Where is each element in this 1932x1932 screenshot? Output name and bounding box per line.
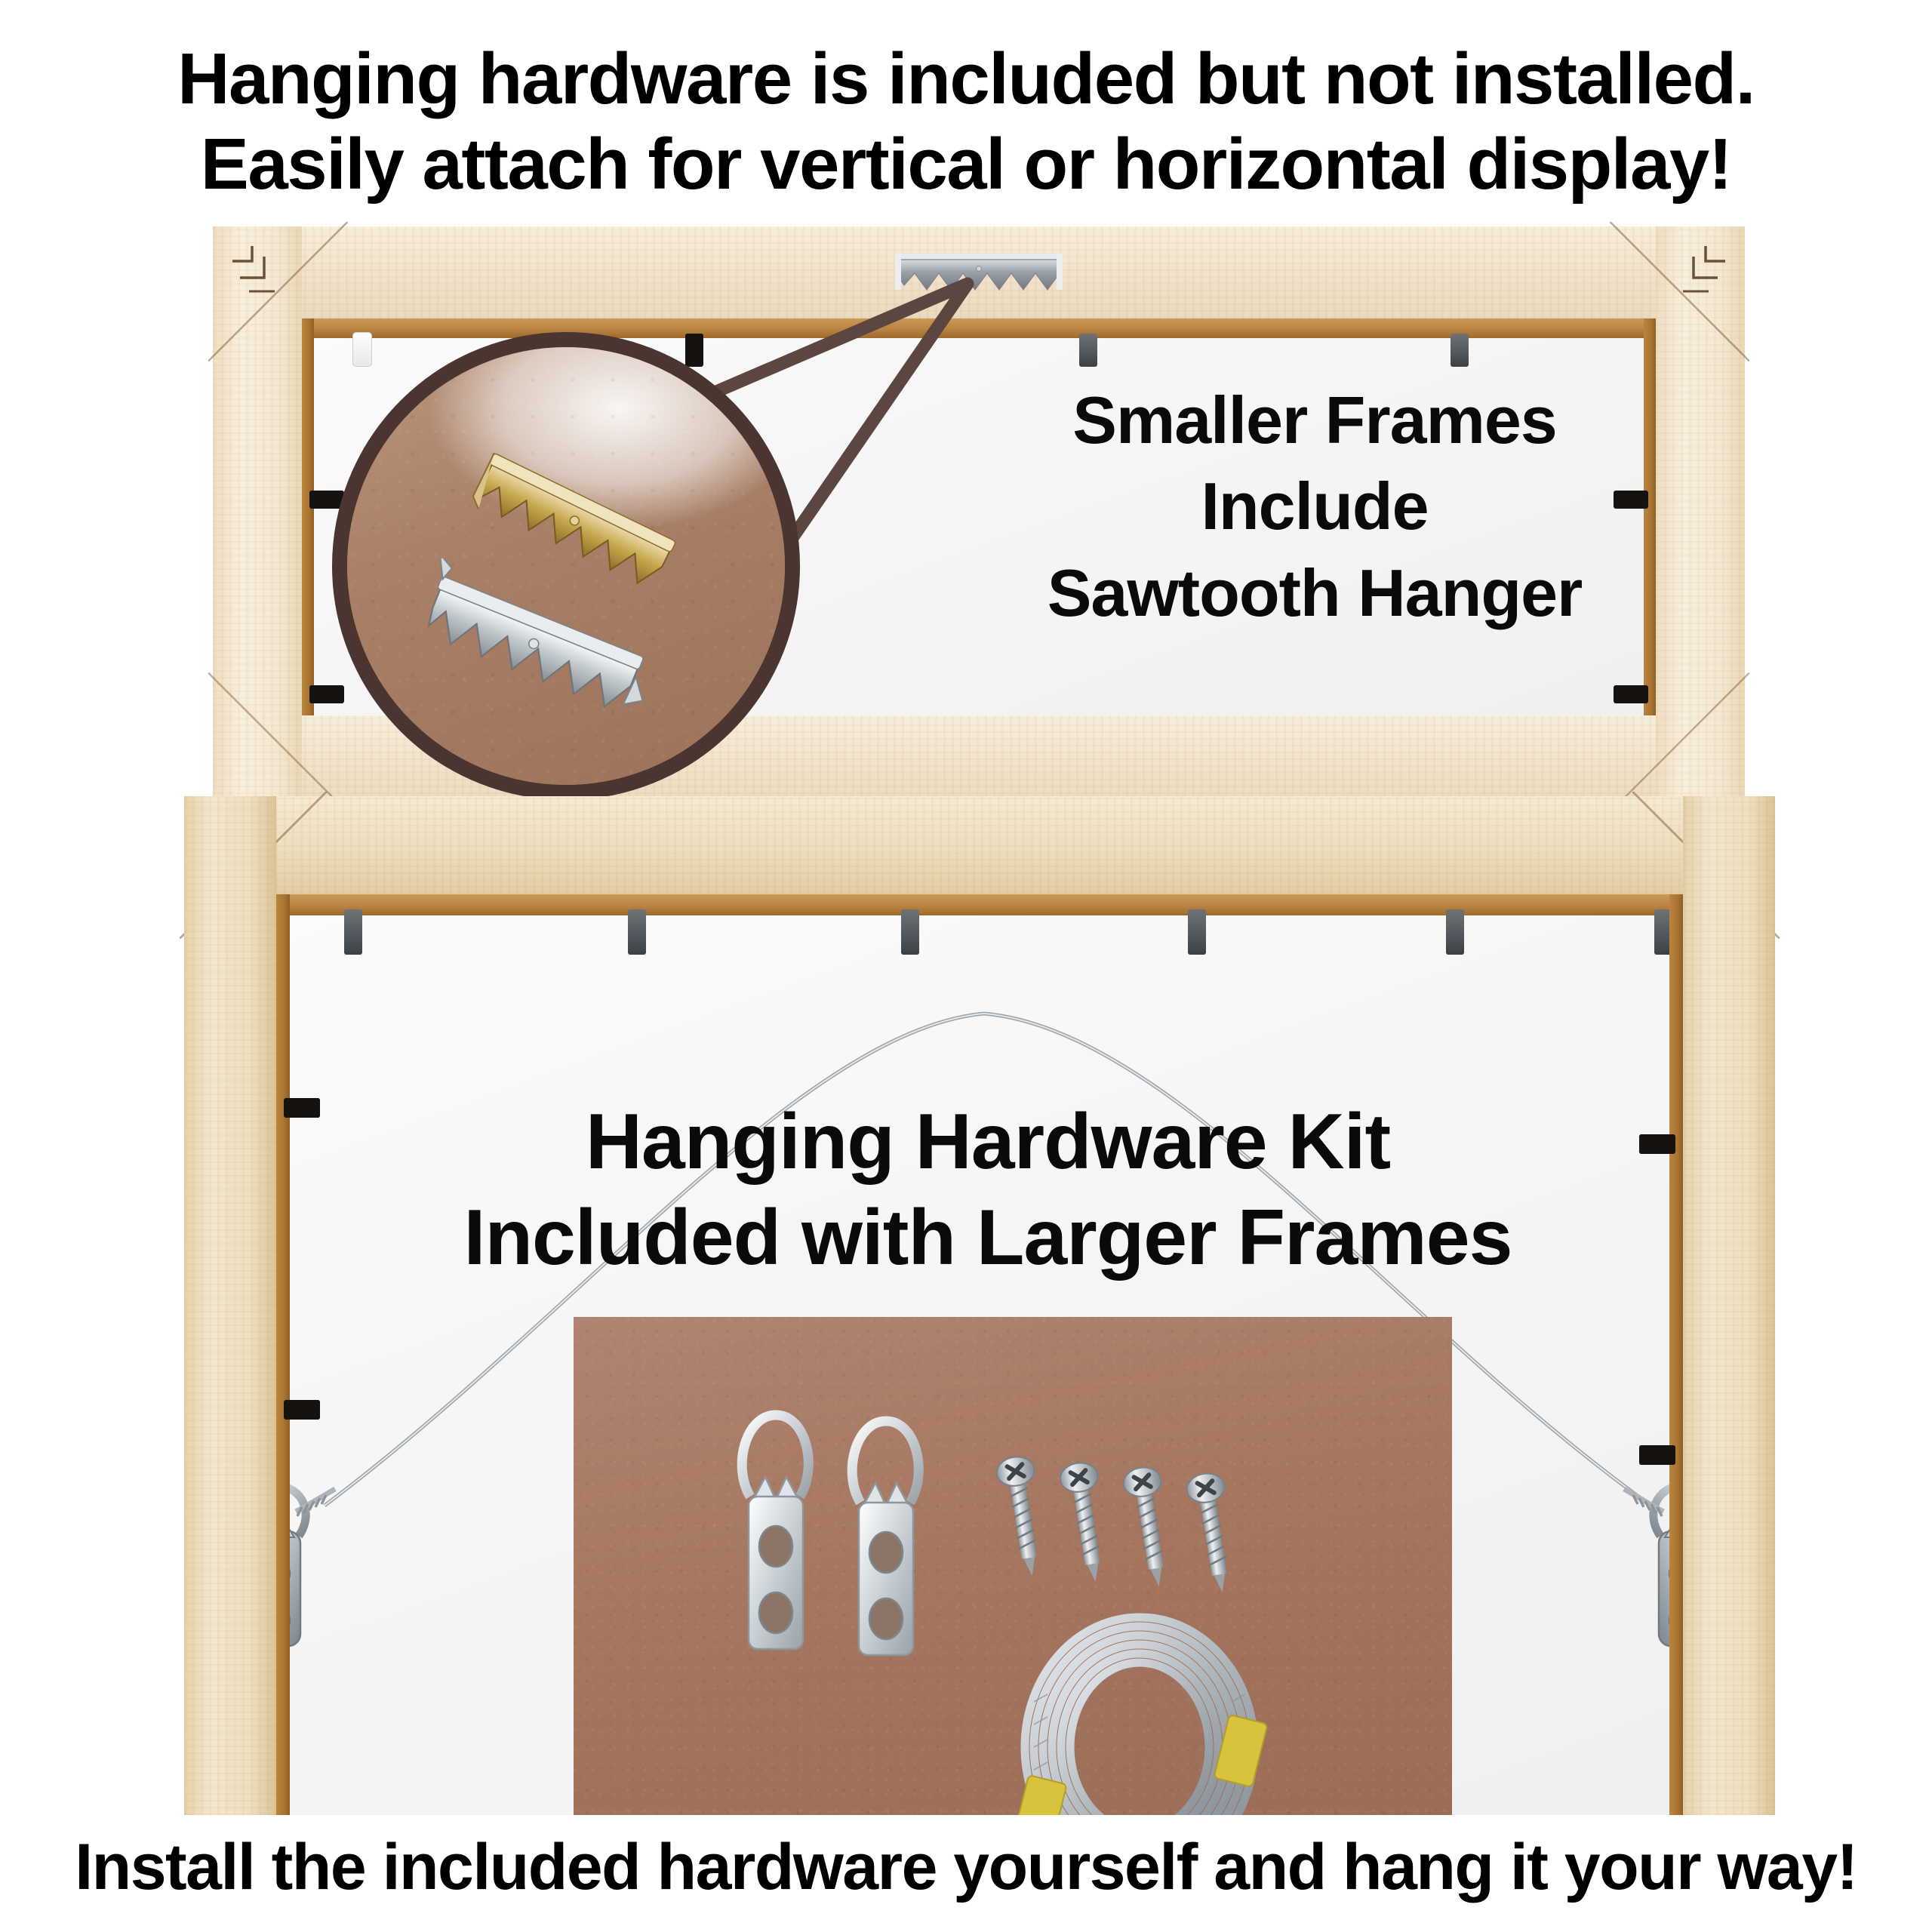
larger-frame-back: Hanging Hardware Kit Included with Large… [184, 796, 1775, 1815]
kit-phillips-screw-icon [1120, 1454, 1177, 1589]
retaining-clip [1614, 685, 1648, 703]
page-footer-text: Install the included hardware yourself a… [0, 1832, 1932, 1903]
frame-rail-left-overlay [184, 796, 276, 1815]
frame-rabbet-left-overlay [276, 894, 290, 1815]
retaining-clip [1451, 334, 1469, 367]
smaller-frames-line-1: Smaller Frames [1005, 377, 1624, 463]
kit-phillips-screw-icon [1057, 1450, 1114, 1584]
page-headline: Hanging hardware is included but not ins… [0, 36, 1932, 208]
retaining-clip [284, 1098, 320, 1118]
kit-d-ring-hanger-icon [715, 1386, 836, 1673]
kit-hanging-wire-coil-icon [981, 1589, 1298, 1815]
retaining-clip [1079, 334, 1097, 367]
frame-rail-right-overlay [1683, 796, 1775, 1815]
smaller-frames-line-2: Include [1005, 463, 1624, 549]
retaining-clip [628, 909, 646, 955]
retaining-clip [309, 491, 344, 509]
frame-rabbet-right-overlay [1669, 894, 1683, 1815]
frame-rail-top [184, 796, 1775, 894]
retaining-clip [344, 909, 362, 955]
retaining-clip [284, 1400, 320, 1420]
hanging-hardware-kit-photo [574, 1317, 1452, 1815]
sawtooth-closeup-callout [332, 332, 800, 800]
retaining-clip [309, 685, 344, 703]
retaining-clip [1446, 909, 1464, 955]
larger-frames-line-1: Hanging Hardware Kit [441, 1094, 1535, 1190]
larger-frames-line-2: Included with Larger Frames [441, 1190, 1535, 1286]
retaining-clip [1639, 1445, 1675, 1465]
frame-rabbet-top [276, 894, 1683, 915]
smaller-frames-line-3: Sawtooth Hanger [1005, 550, 1624, 636]
sawtooth-hanger [892, 246, 1066, 299]
kit-phillips-screw-icon [993, 1444, 1051, 1578]
silver-sawtooth-hanger-icon [386, 558, 666, 747]
kit-phillips-screw-icon [1183, 1460, 1241, 1595]
frame-rabbet-left [302, 318, 314, 715]
frame-rabbet-right [1644, 318, 1656, 715]
retaining-clip [1639, 1134, 1675, 1154]
kit-d-ring-hanger-icon [826, 1392, 946, 1679]
infographic-canvas: Hanging hardware is included but not ins… [0, 0, 1932, 1932]
smaller-frame-back: Smaller Frames Include Sawtooth Hanger [213, 226, 1745, 808]
smaller-frames-text-block: Smaller Frames Include Sawtooth Hanger [1005, 377, 1624, 636]
retaining-clip [901, 909, 919, 955]
larger-frames-text-block: Hanging Hardware Kit Included with Large… [441, 1094, 1535, 1286]
retaining-clip [1188, 909, 1206, 955]
